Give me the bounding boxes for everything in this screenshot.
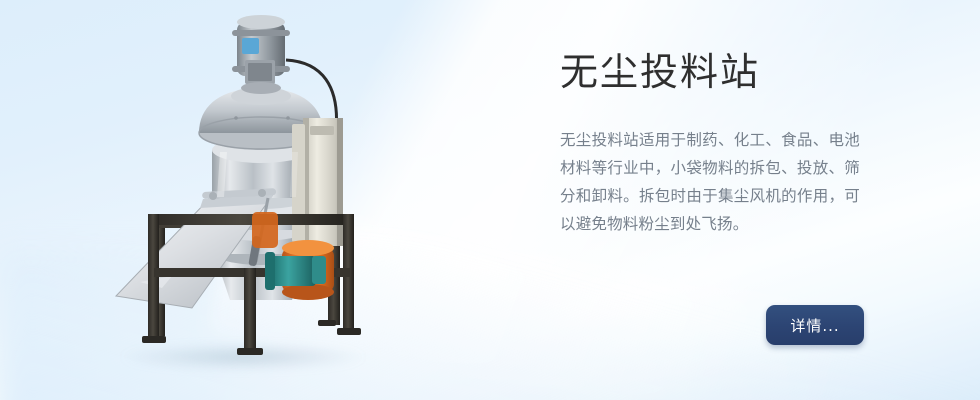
motor-nameplate xyxy=(242,38,259,54)
cta-container: 详情... xyxy=(766,305,864,345)
banner-copy: 无尘投料站 无尘投料站适用于制药、化工、食品、电池材料等行业中，小袋物料的拆包、… xyxy=(560,48,880,238)
product-banner: 无尘投料站 无尘投料站适用于制药、化工、食品、电池材料等行业中，小袋物料的拆包、… xyxy=(0,0,980,400)
product-image xyxy=(96,0,426,372)
product-description: 无尘投料站适用于制药、化工、食品、电池材料等行业中，小袋物料的拆包、投放、筛分和… xyxy=(560,126,860,238)
page-title: 无尘投料站 xyxy=(560,48,880,96)
drive-motor xyxy=(232,15,290,94)
vibrator-bracket xyxy=(270,256,316,286)
details-button[interactable]: 详情... xyxy=(766,305,864,345)
control-box xyxy=(292,118,343,246)
